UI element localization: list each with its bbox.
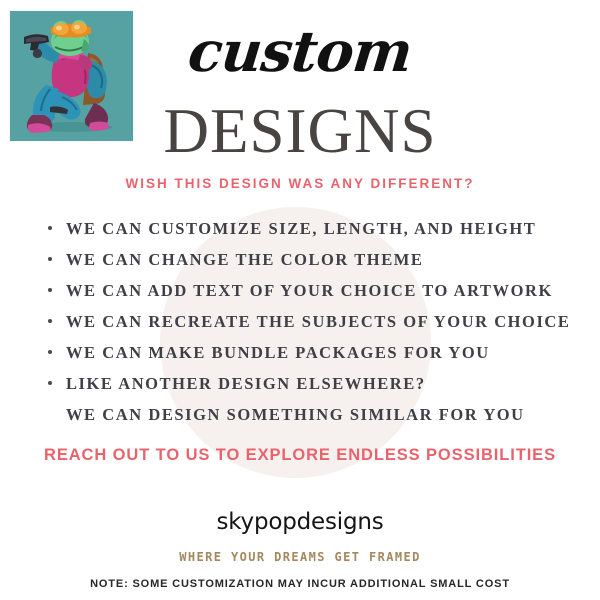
footer-note: NOTE: SOME CUSTOMIZATION MAY INCUR ADDIT… [0,578,600,590]
call-to-action-text: REACH OUT TO US TO EXPLORE ENDLESS POSSI… [0,446,600,465]
list-item: WE CAN MAKE BUNDLE PACKAGES FOR YOU [40,337,580,368]
bullet-dot-icon [48,381,52,385]
promo-poster: custom DESIGNS WISH THIS DESIGN WAS ANY … [0,0,600,600]
bullet-dot-icon [48,288,52,292]
subtitle-question: WISH THIS DESIGN WAS ANY DIFFERENT? [0,176,600,191]
list-item: WE CAN RECREATE THE SUBJECTS OF YOUR CHO… [40,306,580,337]
list-item-label: WE CAN ADD TEXT OF YOUR CHOICE TO ARTWOR… [66,281,553,300]
list-item-continuation: WE CAN DESIGN SOMETHING SIMILAR FOR YOU [40,399,580,430]
brand-logo-text: skypopdesigns [0,509,600,535]
bullet-dot-icon [48,350,52,354]
list-item: LIKE ANOTHER DESIGN ELSEWHERE? [40,368,580,399]
bullet-dot-icon [48,319,52,323]
list-item-label: WE CAN RECREATE THE SUBJECTS OF YOUR CHO… [66,312,570,331]
list-item: WE CAN ADD TEXT OF YOUR CHOICE TO ARTWOR… [40,275,580,306]
bullet-dot-icon [48,257,52,261]
list-item-label: LIKE ANOTHER DESIGN ELSEWHERE? [66,374,426,393]
feature-list: WE CAN CUSTOMIZE SIZE, LENGTH, AND HEIGH… [40,213,580,430]
list-item-label: WE CAN CUSTOMIZE SIZE, LENGTH, AND HEIGH… [66,219,536,238]
list-item-label: WE CAN DESIGN SOMETHING SIMILAR FOR YOU [66,405,525,424]
brand-tagline: WHERE YOUR DREAMS GET FRAMED [0,550,600,564]
list-item: WE CAN CUSTOMIZE SIZE, LENGTH, AND HEIGH… [40,213,580,244]
bullet-dot-icon [48,226,52,230]
frog-character-illustration [10,11,133,141]
list-item-label: WE CAN MAKE BUNDLE PACKAGES FOR YOU [66,343,490,362]
list-item-label: WE CAN CHANGE THE COLOR THEME [66,250,423,269]
product-thumbnail-image [10,11,133,141]
list-item: WE CAN CHANGE THE COLOR THEME [40,244,580,275]
